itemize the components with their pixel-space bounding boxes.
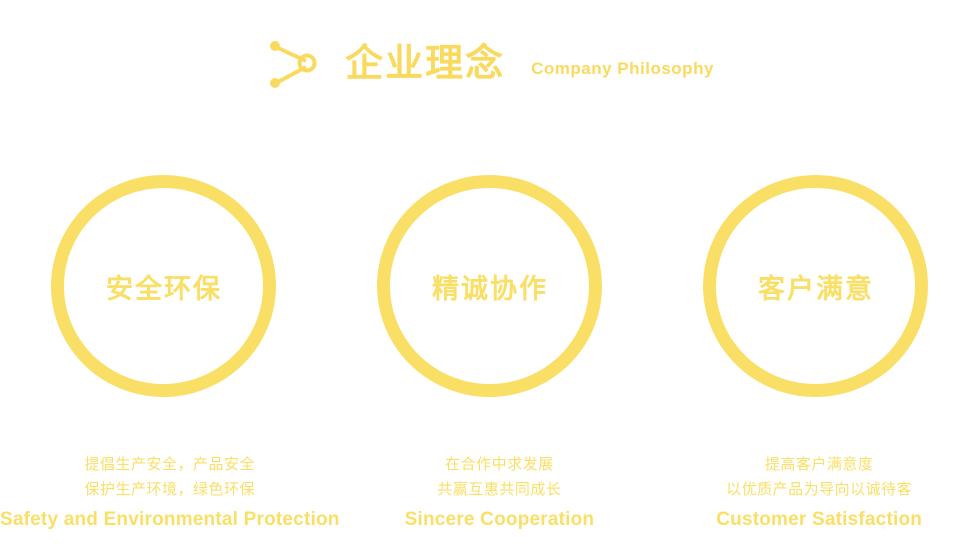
page-subtitle: Company Philosophy xyxy=(531,59,714,79)
ring-3: 客户满意 xyxy=(700,171,933,401)
circle-column-2: 精诚协作 xyxy=(326,168,652,403)
caption-column-3: 提高客户满意度 以优质产品为导向以诚待客 Customer Satisfacti… xyxy=(659,452,979,552)
caption-line-1-1: 提倡生产安全，产品安全 xyxy=(0,452,340,477)
slide-header: 企业理念 Company Philosophy xyxy=(0,24,979,104)
circles-row: 安全环保 精诚协作 客户满意 xyxy=(0,168,979,403)
circle-column-3: 客户满意 xyxy=(653,168,979,403)
caption-line-1-2: 保护生产环境，绿色环保 xyxy=(0,477,340,502)
caption-line-3-2: 以优质产品为导向以诚待客 xyxy=(659,477,979,502)
circle-column-1: 安全环保 xyxy=(0,168,326,403)
caption-en-3: Customer Satisfaction xyxy=(659,505,979,535)
ring-label-2: 精诚协作 xyxy=(431,266,547,305)
caption-line-2-2: 共赢互惠共同成长 xyxy=(340,477,660,502)
caption-en-2: Sincere Cooperation xyxy=(340,505,660,535)
ring-2: 精诚协作 xyxy=(371,169,607,402)
ring-label-1: 安全环保 xyxy=(105,266,221,305)
header-inner: 企业理念 Company Philosophy xyxy=(265,31,714,97)
ring-1: 安全环保 xyxy=(43,167,283,404)
share-nodes-icon xyxy=(265,31,327,97)
caption-line-3-1: 提高客户满意度 xyxy=(659,452,979,477)
captions-row: 提倡生产安全，产品安全 保护生产环境，绿色环保 Safety and Envir… xyxy=(0,452,979,552)
page-title: 企业理念 xyxy=(345,45,505,83)
caption-line-2-1: 在合作中求发展 xyxy=(340,452,660,477)
caption-column-1: 提倡生产安全，产品安全 保护生产环境，绿色环保 Safety and Envir… xyxy=(0,452,340,552)
caption-en-1: Safety and Environmental Protection xyxy=(0,505,340,535)
ring-label-3: 客户满意 xyxy=(758,266,874,305)
caption-column-2: 在合作中求发展 共赢互惠共同成长 Sincere Cooperation xyxy=(340,452,660,552)
